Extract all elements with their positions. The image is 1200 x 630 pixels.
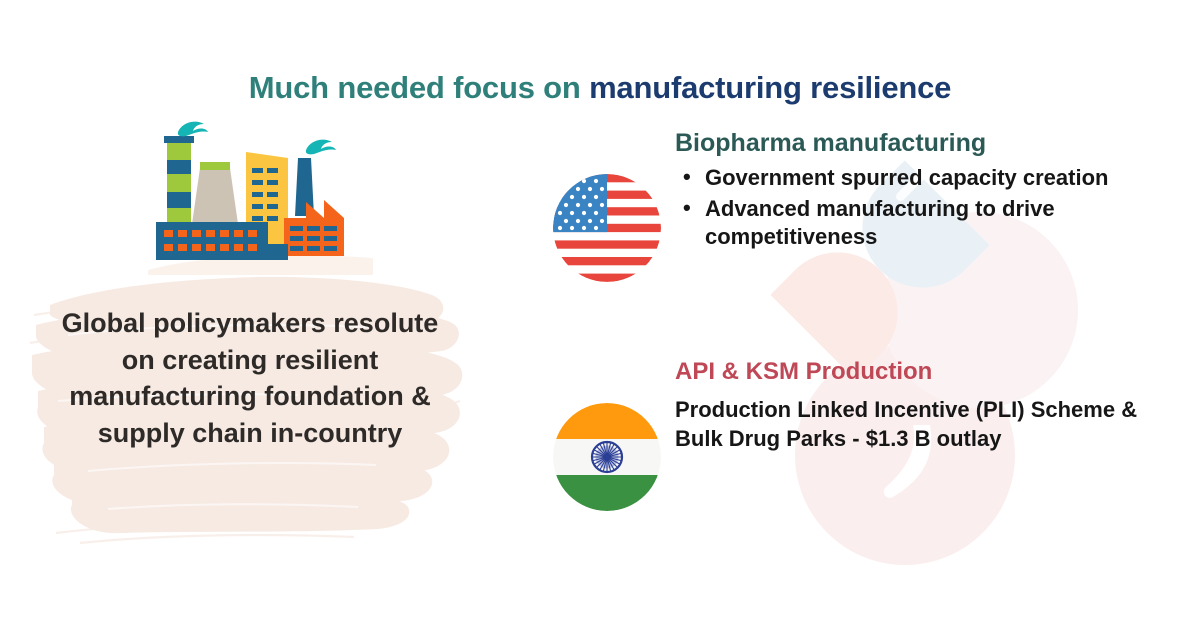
biopharma-heading: Biopharma manufacturing (675, 128, 1175, 158)
left-statement-text: Global policymakers resolute on creating… (50, 305, 450, 452)
smoke-puff-right (306, 140, 336, 155)
biopharma-body: Biopharma manufacturing Government spurr… (675, 128, 1175, 254)
india-flag-icon (553, 403, 661, 511)
smoke-puff-left (178, 122, 208, 137)
right-column: Biopharma manufacturing Government spurr… (545, 128, 1175, 538)
ashoka-chakra (592, 442, 622, 472)
title-part-1: Much needed focus on (249, 70, 589, 105)
us-flag-icon (553, 174, 661, 282)
api-ksm-paragraph: Production Linked Incentive (PLI) Scheme… (675, 395, 1175, 454)
api-ksm-body: API & KSM Production Production Linked I… (675, 358, 1175, 453)
infographic-slide: Much needed focus on manufacturing resil… (0, 0, 1200, 630)
left-column: Global policymakers resolute on creating… (28, 115, 468, 545)
biopharma-bullet-list: Government spurred capacity creation Adv… (675, 164, 1175, 252)
factory-illustration (138, 120, 378, 275)
list-item: Advanced manufacturing to drive competit… (701, 195, 1175, 252)
page-title: Much needed focus on manufacturing resil… (0, 70, 1200, 106)
api-ksm-heading: API & KSM Production (675, 358, 1175, 387)
list-item: Government spurred capacity creation (701, 164, 1175, 193)
title-part-2: manufacturing resilience (589, 70, 951, 105)
